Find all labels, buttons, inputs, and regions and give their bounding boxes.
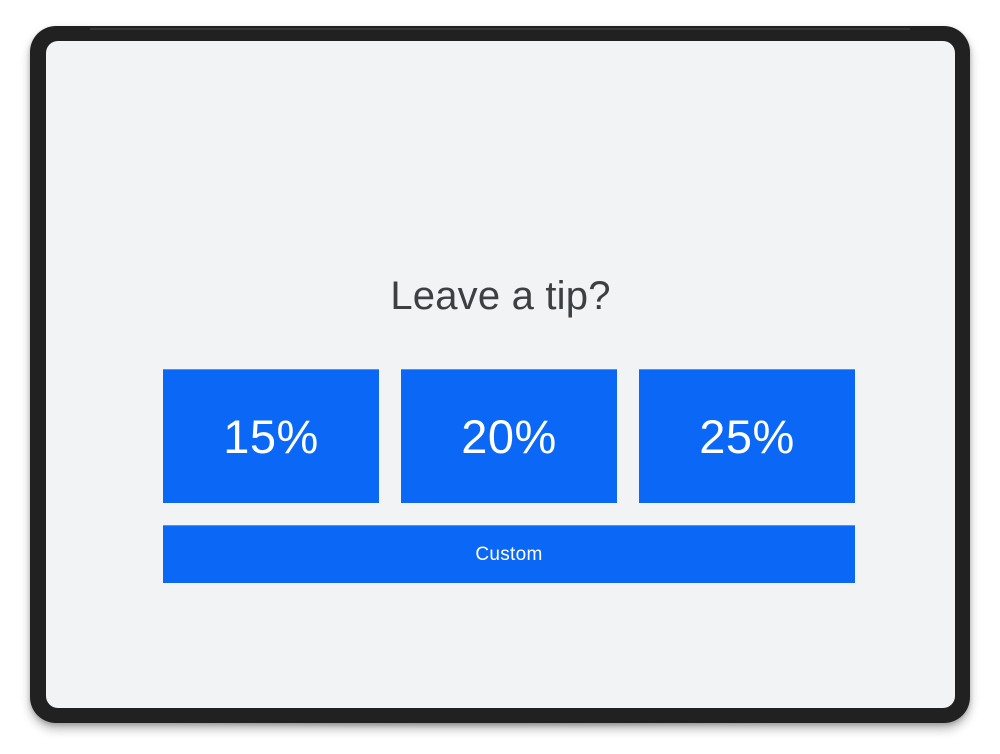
payment-terminal-screen: Leave a tip? 15% 20% 25% Custom — [46, 41, 955, 708]
tip-option-15-button[interactable]: 15% — [163, 369, 379, 503]
page-title: Leave a tip? — [46, 274, 955, 318]
tip-option-20-button[interactable]: 20% — [401, 369, 617, 503]
tip-option-25-button[interactable]: 25% — [639, 369, 855, 503]
tip-options-row: 15% 20% 25% — [163, 369, 855, 503]
tablet-device-frame: Leave a tip? 15% 20% 25% Custom — [30, 26, 970, 723]
page-root: Leave a tip? 15% 20% 25% Custom — [0, 0, 1000, 754]
custom-tip-button[interactable]: Custom — [163, 525, 855, 583]
tablet-screen: Leave a tip? 15% 20% 25% Custom — [46, 41, 955, 708]
